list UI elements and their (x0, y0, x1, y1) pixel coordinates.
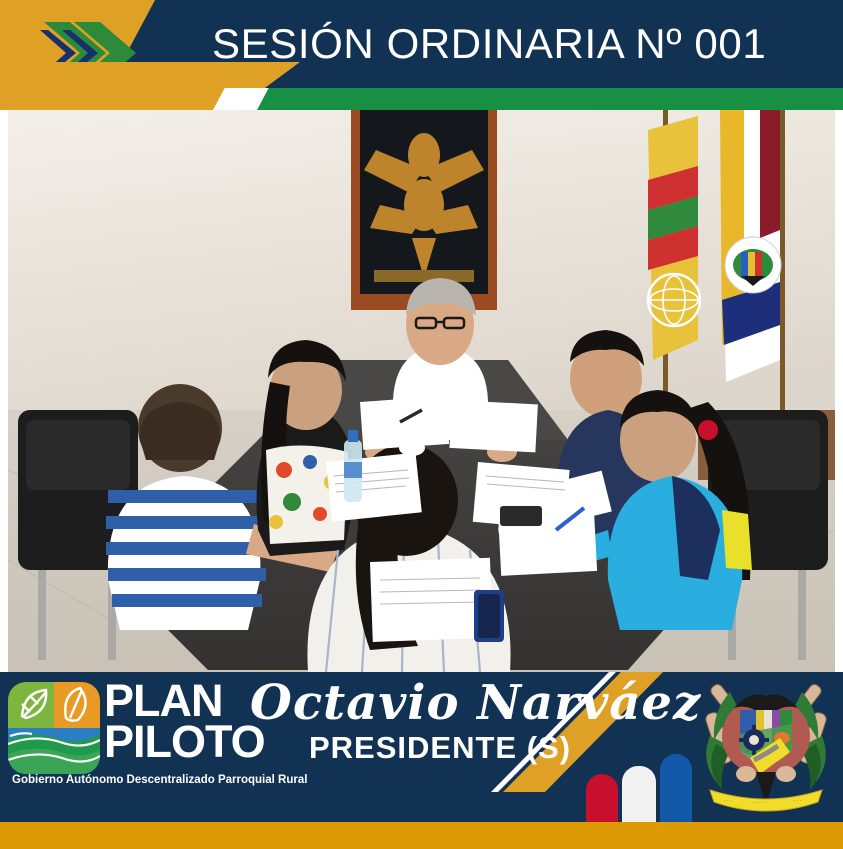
phone-dark (500, 506, 542, 526)
logo-tagline: Gobierno Autónomo Descentralizado Parroq… (12, 774, 332, 786)
header-banner: SESIÓN ORDINARIA Nº 001 (0, 0, 843, 110)
framed-picture (351, 110, 497, 310)
bar-white (622, 766, 656, 822)
water-bottle (344, 430, 362, 502)
cup (399, 440, 425, 456)
bar-red (586, 774, 618, 822)
svg-text:· · ·: · · · (794, 798, 802, 804)
tricolor-bars (586, 754, 696, 822)
page-title: SESIÓN ORDINARIA Nº 001 (212, 14, 832, 74)
bar-blue (660, 754, 692, 822)
plan-piloto-logo-icon (8, 682, 100, 774)
person-name: Octavio Narváez (250, 678, 630, 728)
meeting-photo-illustration (8, 110, 835, 672)
svg-text:· · ·: · · · (724, 798, 732, 804)
speaker-identification: Octavio Narváez PRESIDENTE (S) (250, 678, 630, 766)
coat-of-arms-icon: · · · · · · · · · · · (694, 674, 838, 820)
person-role: PRESIDENTE (S) (250, 730, 630, 766)
poster-canvas: SESIÓN ORDINARIA Nº 001 (0, 0, 843, 849)
meeting-photo (8, 110, 835, 672)
svg-text:· · · · ·: · · · · · (752, 800, 766, 806)
bottom-orange-strip (0, 822, 843, 849)
